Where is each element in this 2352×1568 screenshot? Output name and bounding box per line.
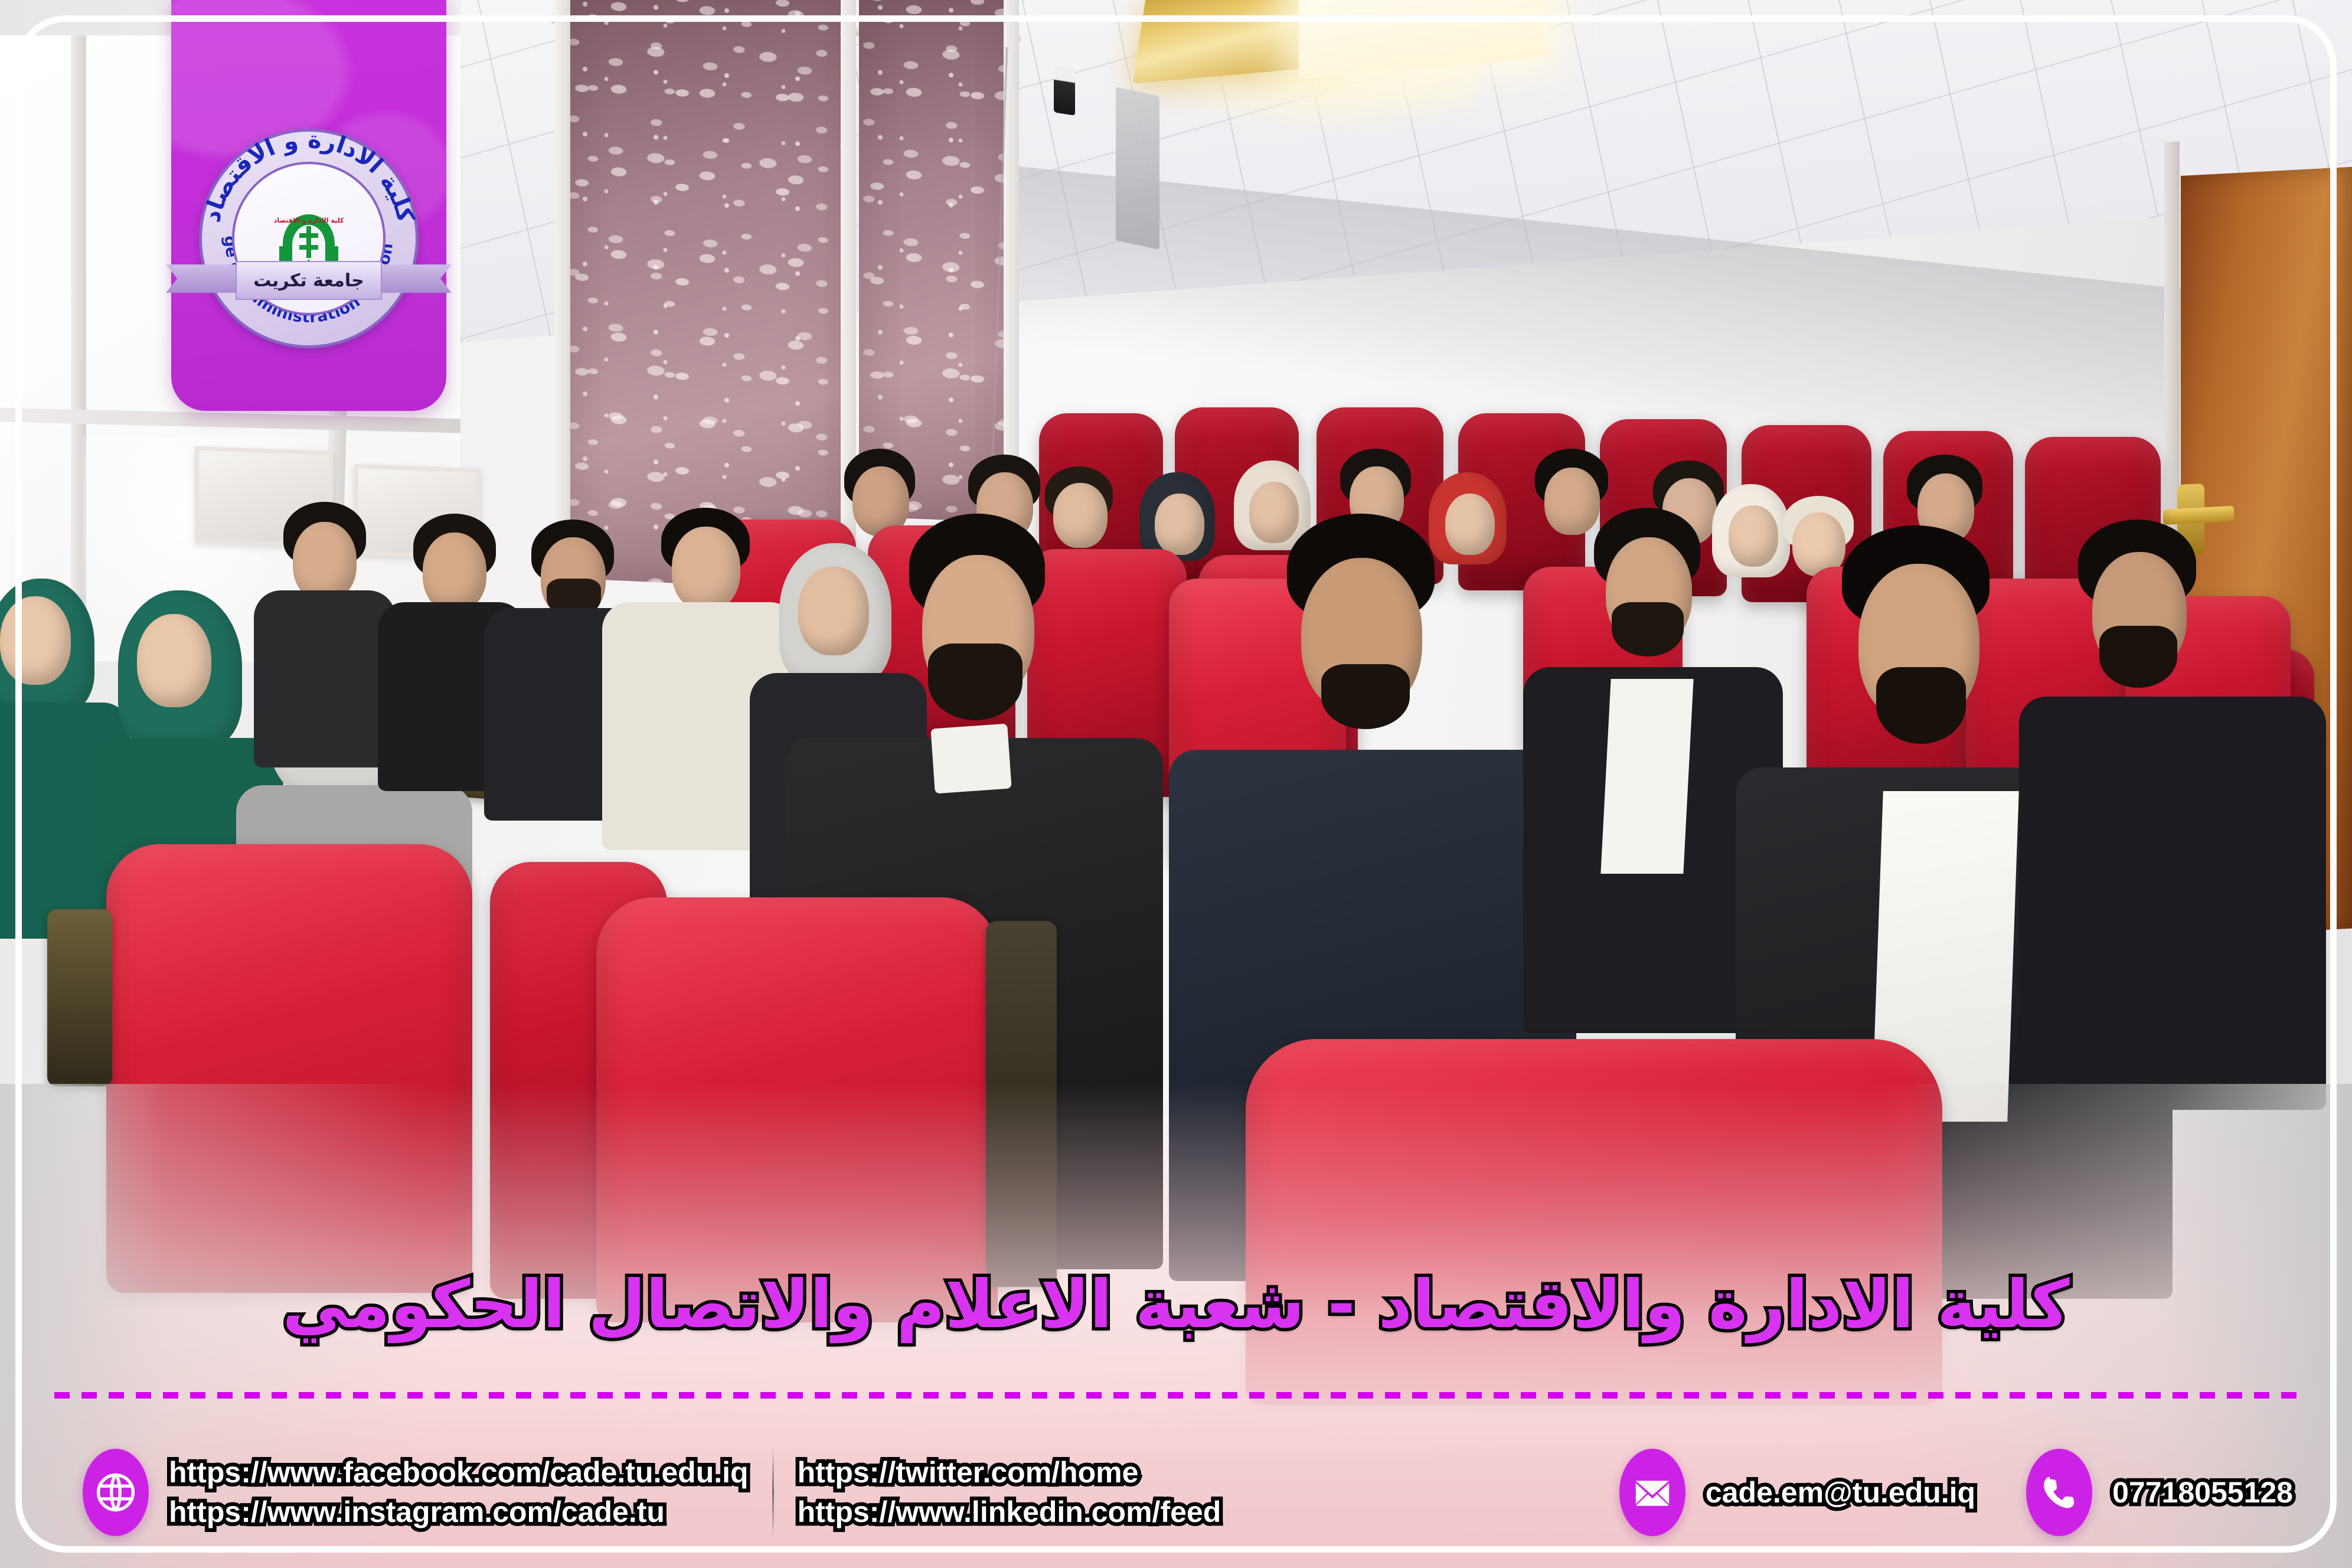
page-title: كلية الادارة والاقتصاد - شعبة الاعلام وا… [282,1266,2069,1343]
envelope-icon[interactable] [1619,1449,1685,1536]
social-links: https://www.facebook.com/cade.tu.edu.iq … [169,1458,749,1527]
twitter-url[interactable]: https://twitter.com/home [798,1458,1221,1488]
globe-icon-glyph [94,1471,137,1514]
globe-icon[interactable] [83,1449,149,1536]
logo-banner: كلية الادارة و الاقتصاد College of Admin… [171,0,446,411]
envelope-icon-glyph [1631,1471,1674,1514]
headline-banner: كلية الادارة والاقتصاد - شعبة الاعلام وا… [0,1252,2352,1358]
wall-speaker [1116,87,1159,250]
phone-block: 07718055128 [2112,1478,2293,1508]
footer-group-social-2: https://twitter.com/home https://www.lin… [798,1458,1221,1527]
university-name: جامعة تكريت [253,270,364,291]
event-photo-card: كلية الادارة و الاقتصاد College of Admin… [0,0,2352,1568]
window-frame [555,0,570,609]
phone-icon[interactable] [2026,1449,2092,1536]
phone-number[interactable]: 07718055128 [2112,1478,2293,1508]
contact-footer: https://www.facebook.com/cade.tu.edu.iq … [0,1417,2352,1568]
svg-text:كلية الادارة و الاقتصاد: كلية الادارة و الاقتصاد [274,217,344,224]
phone-icon-glyph [2038,1471,2080,1514]
emblem-ribbon: جامعة تكريت [210,261,408,298]
patterned-curtain [564,0,847,591]
ribbon-plate: جامعة تكريت [236,261,382,300]
ribbon-wing-right [381,264,452,293]
seat-armrest [47,909,112,1086]
footer-group-email: cade.em@tu.edu.iq [1619,1449,1975,1536]
email-block: cade.em@tu.edu.iq [1706,1478,1975,1508]
social-links-2: https://twitter.com/home https://www.lin… [798,1458,1221,1527]
footer-group-phone: 07718055128 [2026,1449,2293,1536]
ribbon-wing-left [166,264,237,293]
facebook-url[interactable]: https://www.facebook.com/cade.tu.edu.iq [169,1458,749,1488]
patterned-curtain [859,0,1012,522]
instagram-url[interactable]: https://www.instagram.com/cade.tu [169,1497,749,1527]
dress-shirt [1600,679,1693,874]
ceiling-sensor [1054,66,1075,116]
linkedin-url[interactable]: https://www.linkedin.com/feed [798,1497,1221,1527]
shirt-collar [930,724,1011,794]
footer-divider [772,1448,774,1537]
email-address[interactable]: cade.em@tu.edu.iq [1706,1478,1975,1508]
dashed-divider [54,1392,2298,1399]
footer-group-social: https://www.facebook.com/cade.tu.edu.iq … [83,1449,749,1536]
college-emblem-icon: كلية الادارة و الاقتصاد College of Admin… [199,129,419,348]
window-frame [841,0,856,609]
